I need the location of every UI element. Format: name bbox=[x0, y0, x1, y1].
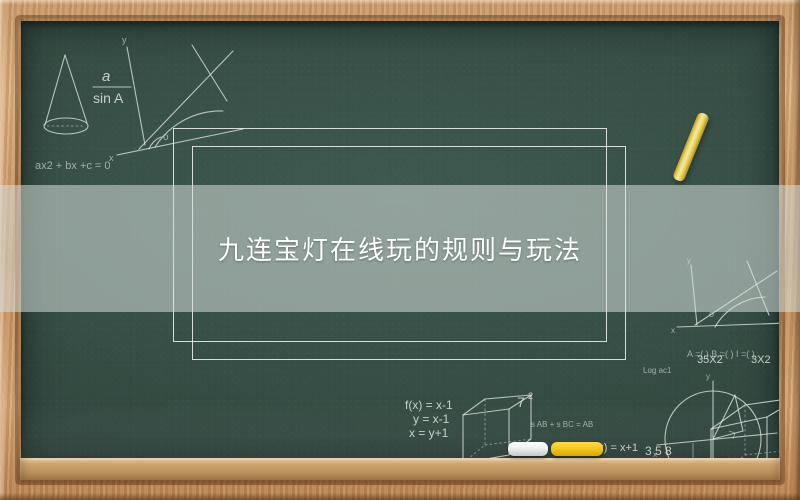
svg-text:7: 7 bbox=[517, 394, 525, 410]
svg-text:3X2: 3X2 bbox=[751, 354, 771, 366]
svg-text:x = y+1: x = y+1 bbox=[409, 426, 449, 440]
headline-title: 九连宝灯在线玩的规则与玩法 bbox=[218, 230, 582, 267]
svg-text:2: 2 bbox=[528, 391, 533, 401]
blackboard-scene: a sin A ax2 + bx +c = 0 y x o y bbox=[0, 0, 800, 500]
doodle-top-left: a sin A ax2 + bx +c = 0 y x o bbox=[27, 27, 257, 187]
svg-text:f(x) = x-1: f(x) = x-1 bbox=[405, 398, 453, 412]
headline-banner: 九连宝灯在线玩的规则与玩法 bbox=[0, 185, 800, 312]
doodle-vector-expr: s AB + s BC = AB bbox=[529, 413, 639, 433]
svg-text:ax2 + bx +c = 0: ax2 + bx +c = 0 bbox=[35, 160, 111, 172]
doodle-matrix-35x2: 35X2 bbox=[695, 347, 755, 371]
svg-text:o: o bbox=[163, 132, 169, 143]
svg-text:x: x bbox=[671, 326, 675, 335]
svg-text:x: x bbox=[653, 450, 657, 458]
svg-text:35X2: 35X2 bbox=[697, 354, 723, 366]
tray-chalk-white bbox=[508, 442, 548, 456]
svg-text:x: x bbox=[109, 153, 114, 163]
svg-text:y: y bbox=[706, 372, 710, 381]
svg-text:y = x-1: y = x-1 bbox=[413, 412, 450, 426]
svg-text:sin A: sin A bbox=[93, 90, 124, 106]
svg-text:a: a bbox=[102, 68, 110, 85]
svg-text:y: y bbox=[122, 35, 127, 45]
frame-highlight-top bbox=[0, 0, 800, 5]
svg-text:s AB + s BC = AB: s AB + s BC = AB bbox=[531, 420, 593, 429]
doodle-power-7: 7 2 bbox=[513, 387, 553, 413]
doodle-cube-right bbox=[701, 393, 779, 458]
doodle-matrix-3x2: 3X2 bbox=[749, 347, 779, 371]
frame-shadow-bottom bbox=[0, 493, 800, 500]
tray-chalk-yellow bbox=[551, 442, 603, 456]
